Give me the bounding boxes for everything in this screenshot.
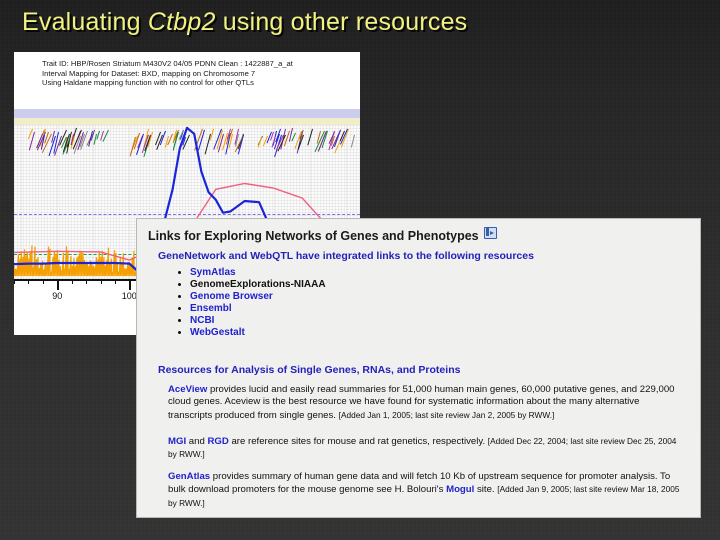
x-axis-minor-tick <box>101 279 102 284</box>
list-item[interactable]: WebGestalt <box>190 327 326 339</box>
links-window[interactable]: Links for Exploring Networks of Genes an… <box>137 219 700 517</box>
x-axis-minor-tick <box>14 279 15 284</box>
x-axis-tick-label: 90 <box>52 291 62 301</box>
x-axis-minor-tick <box>43 279 44 284</box>
list-item[interactable]: SymAtlas <box>190 267 326 279</box>
paragraph-genatlas: GenAtlas provides summary of human gene … <box>168 471 680 510</box>
chart-header-text: Trait ID: HBP/Rosen Striatum M430V2 04/0… <box>42 59 354 88</box>
paragraph-aceview: AceView provides lucid and easily read s… <box>168 384 680 422</box>
list-item[interactable]: Genome Browser <box>190 291 326 303</box>
links-intro-text: GeneNetwork and WebQTL have integrated l… <box>158 250 534 262</box>
links-heading-text: Links for Exploring Networks of Genes an… <box>148 229 479 243</box>
title-prefix: Evaluating <box>22 8 148 36</box>
genatlas-body-2: site. <box>474 484 497 495</box>
link-aceview[interactable]: AceView <box>168 384 207 395</box>
paragraph-mgi: MGI and RGD are reference sites for mous… <box>168 435 680 462</box>
resource-links-list: SymAtlasGenomeExplorations-NIAAAGenome B… <box>173 267 326 340</box>
aceview-note: [Added Jan 1, 2005; last site review Jan… <box>339 410 555 420</box>
x-axis-minor-tick <box>72 279 73 284</box>
x-axis-tick-label: 100 <box>122 291 137 301</box>
link-genatlas[interactable]: GenAtlas <box>168 471 210 482</box>
link-mogul[interactable]: Mogul <box>446 484 474 495</box>
list-item: GenomeExplorations-NIAAA <box>190 279 326 291</box>
list-item[interactable]: NCBI <box>190 315 326 327</box>
x-axis-major-tick <box>129 279 131 290</box>
x-axis-minor-tick <box>28 279 29 284</box>
x-axis-minor-tick <box>86 279 87 284</box>
page-title: Evaluating Ctbp2 using other resources <box>22 8 467 37</box>
mgi-mid: and <box>186 436 207 447</box>
chart-header-line-2: Interval Mapping for Dataset: BXD, mappi… <box>42 69 354 79</box>
x-axis-minor-tick <box>115 279 116 284</box>
link-rgd[interactable]: RGD <box>207 436 228 447</box>
chart-header-line-3: Using Haldane mapping function with no c… <box>42 78 354 88</box>
x-axis-major-tick <box>57 279 59 290</box>
links-window-heading: Links for Exploring Networks of Genes an… <box>148 227 497 243</box>
external-link-icon[interactable] <box>484 227 497 239</box>
section-heading: Resources for Analysis of Single Genes, … <box>158 364 460 376</box>
list-item[interactable]: Ensembl <box>190 303 326 315</box>
title-suffix: using other resources <box>216 8 468 36</box>
mgi-body: are reference sites for mouse and rat ge… <box>229 436 488 447</box>
link-mgi[interactable]: MGI <box>168 436 186 447</box>
chart-header-line-1: Trait ID: HBP/Rosen Striatum M430V2 04/0… <box>42 59 354 69</box>
title-gene-name: Ctbp2 <box>148 8 216 36</box>
